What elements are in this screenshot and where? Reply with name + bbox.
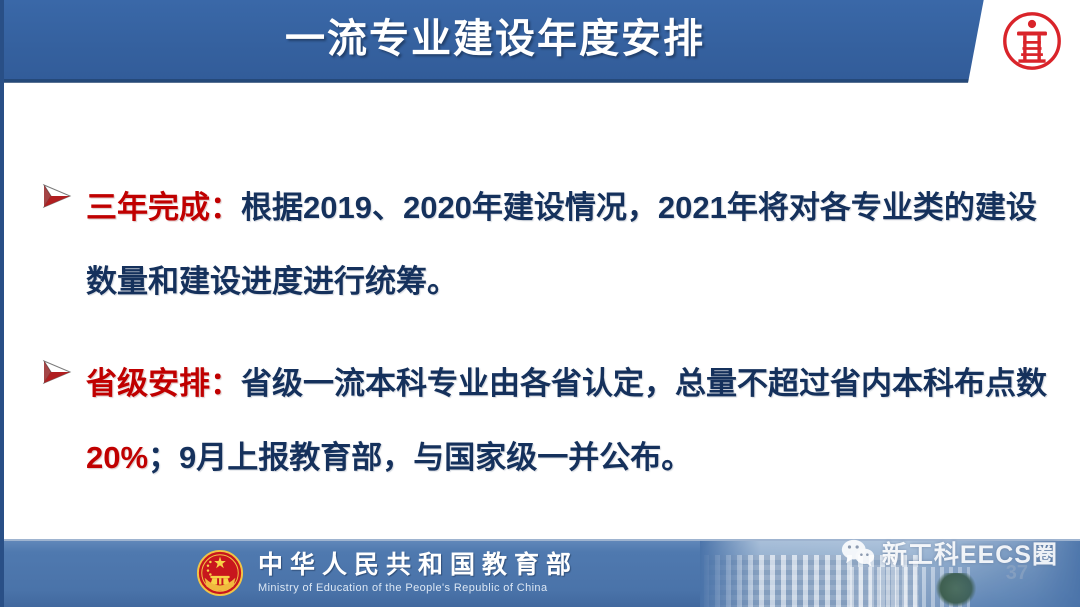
list-item: 三年完成：根据2019、2020年建设情况，2021年将对各专业类的建设数量和建… — [38, 171, 1048, 319]
bullet-list: 三年完成：根据2019、2020年建设情况，2021年将对各专业类的建设数量和建… — [38, 171, 1048, 523]
bullet-keyword: 三年完成： — [86, 190, 241, 225]
bullet-highlight-percent: 20% — [86, 440, 148, 475]
bullet-body-2: ；9月上报教育部，与国家级一并公布。 — [148, 440, 692, 475]
arrow-bullet-icon — [42, 359, 72, 385]
arrow-bullet-icon — [42, 183, 72, 209]
bullet-text: 省级安排：省级一流本科专业由各省认定，总量不超过省内本科布点数20%；9月上报教… — [86, 347, 1048, 495]
list-item: 省级安排：省级一流本科专业由各省认定，总量不超过省内本科布点数20%；9月上报教… — [38, 347, 1048, 495]
ministry-text-block: 中华人民共和国教育部 Ministry of Education of the … — [258, 551, 578, 596]
bullet-body-1: 省级一流本科专业由各省认定，总量不超过省内本科布点数 — [241, 366, 1047, 401]
bullet-text: 三年完成：根据2019、2020年建设情况，2021年将对各专业类的建设数量和建… — [86, 171, 1048, 319]
national-emblem-icon — [196, 549, 244, 597]
page-title: 一流专业建设年度安排 — [0, 8, 1080, 70]
ministry-name-cn: 中华人民共和国教育部 — [258, 551, 578, 579]
watermark: 新工科EECS圈 — [841, 535, 1058, 571]
ministry-of-education-wordmark: 中华人民共和国教育部 Ministry of Education of the … — [196, 543, 578, 603]
slide: 一流专业建设年度安排 — [0, 0, 1080, 607]
institution-emblem-icon — [998, 7, 1066, 75]
watermark-text: 新工科EECS圈 — [882, 535, 1058, 571]
wechat-icon — [841, 538, 875, 568]
ministry-name-en: Ministry of Education of the People's Re… — [258, 581, 578, 596]
header-underline — [0, 79, 1080, 83]
bullet-keyword: 省级安排： — [86, 366, 241, 401]
slide-body: 三年完成：根据2019、2020年建设情况，2021年将对各专业类的建设数量和建… — [4, 83, 1080, 540]
left-edge-rule — [0, 0, 4, 607]
